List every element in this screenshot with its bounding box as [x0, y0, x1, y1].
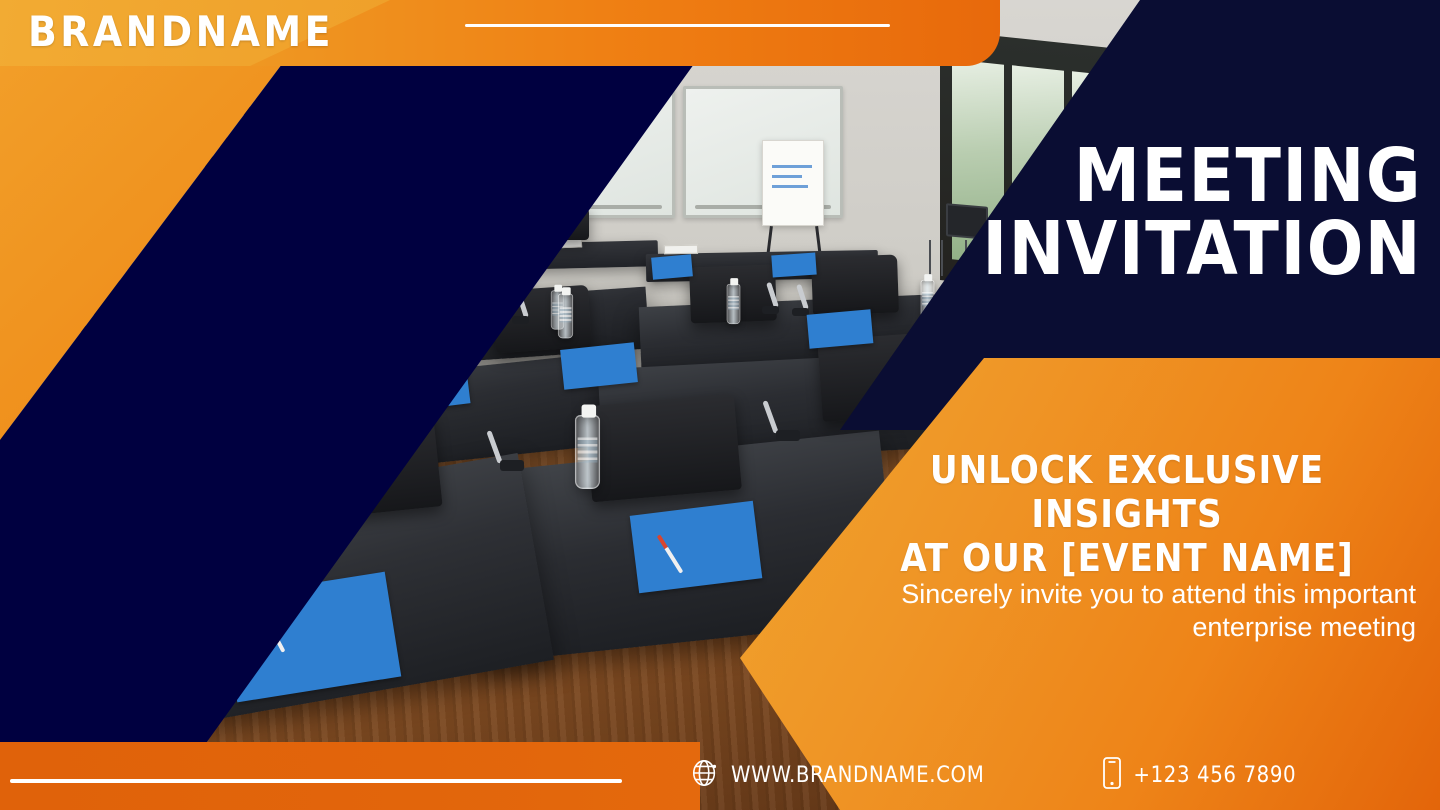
title-line-2: INVITATION [862, 213, 1422, 286]
blue-folder [771, 252, 816, 277]
blue-folder [651, 254, 693, 279]
invitation-poster: BRANDNAME MEETING INVITATION UNLOCK EXCL… [0, 0, 1440, 810]
blue-folder [807, 309, 874, 348]
footer-contacts: WWW.BRANDNAME.COM +123 456 7890 [690, 748, 1430, 802]
microphone-base [500, 460, 524, 471]
headline: UNLOCK EXCLUSIVE INSIGHTS AT OUR [EVENT … [838, 448, 1416, 580]
chair [584, 394, 742, 503]
header-rule [465, 24, 890, 27]
microphone-base [762, 306, 779, 314]
blue-folder [630, 501, 763, 594]
website-text: WWW.BRANDNAME.COM [731, 763, 984, 788]
water-bottle [727, 284, 741, 324]
globe-icon [690, 758, 720, 793]
smartphone-icon [1102, 756, 1122, 795]
water-bottle [558, 294, 573, 339]
phone-text: +123 456 7890 [1133, 763, 1296, 788]
page-title: MEETING INVITATION [862, 140, 1422, 285]
blue-folder [560, 342, 638, 390]
headline-line-1: UNLOCK EXCLUSIVE INSIGHTS [930, 448, 1324, 536]
headline-line-2: AT OUR [EVENT NAME] [838, 536, 1416, 580]
invitation-subtext: Sincerely invite you to attend this impo… [820, 578, 1416, 645]
microphone-base [776, 430, 800, 441]
microphone-base [512, 316, 529, 324]
website-contact[interactable]: WWW.BRANDNAME.COM [690, 758, 984, 793]
brand-logo-text: BRANDNAME [28, 7, 334, 56]
water-bottle [575, 415, 600, 489]
flipchart [762, 140, 824, 226]
phone-contact[interactable]: +123 456 7890 [1102, 756, 1296, 795]
footer-left-bar [0, 742, 700, 810]
name-plate [664, 245, 698, 255]
footer-divider-line [10, 779, 622, 783]
